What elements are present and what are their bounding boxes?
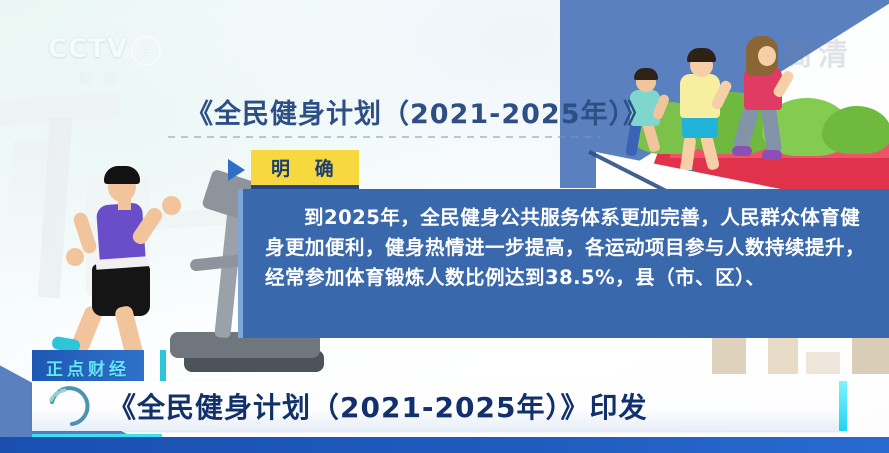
graphic-body-text: 到2025年，全民健身公共服务体系更加完善，人民群众体育健身更加便利，健身热情进… (265, 203, 880, 293)
background-box-shape (806, 352, 840, 374)
hd-watermark: 高清 (782, 30, 854, 74)
key-point-row: 明 确 (228, 150, 359, 189)
circular-swoosh-icon (46, 386, 92, 428)
cctv-logo-text: CCTV (48, 34, 128, 64)
bush-shape (822, 106, 889, 154)
key-point-badge: 明 确 (251, 150, 359, 189)
bottom-blue-bar (0, 437, 889, 453)
title-dashed-rule (168, 136, 600, 138)
program-name-label: 正点财经 (46, 360, 130, 380)
broadcast-frame: 高清 CCTV2 财经 《全民健身计划（2021-2025年）》 明 确 到20… (0, 0, 889, 453)
headline-text: 《全民健身计划（2021-2025年）》印发 (108, 386, 647, 426)
play-triangle-icon (228, 159, 245, 181)
cctv2-channel-logo: CCTV2 财经 (48, 34, 161, 87)
program-badge-accent (160, 350, 166, 381)
cctv-logo-number: 2 (131, 36, 161, 66)
background-box-shape (712, 338, 746, 374)
program-name-badge: 正点财经 (32, 350, 144, 385)
graphic-title: 《全民健身计划（2021-2025年）》 (186, 92, 651, 131)
graphic-text-panel: 到2025年，全民健身公共服务体系更加完善，人民群众体育健身更加便利，健身热情进… (238, 189, 889, 338)
cctv-logo-subtitle: 财经 (48, 68, 161, 87)
headline-bar-accent (839, 381, 847, 431)
